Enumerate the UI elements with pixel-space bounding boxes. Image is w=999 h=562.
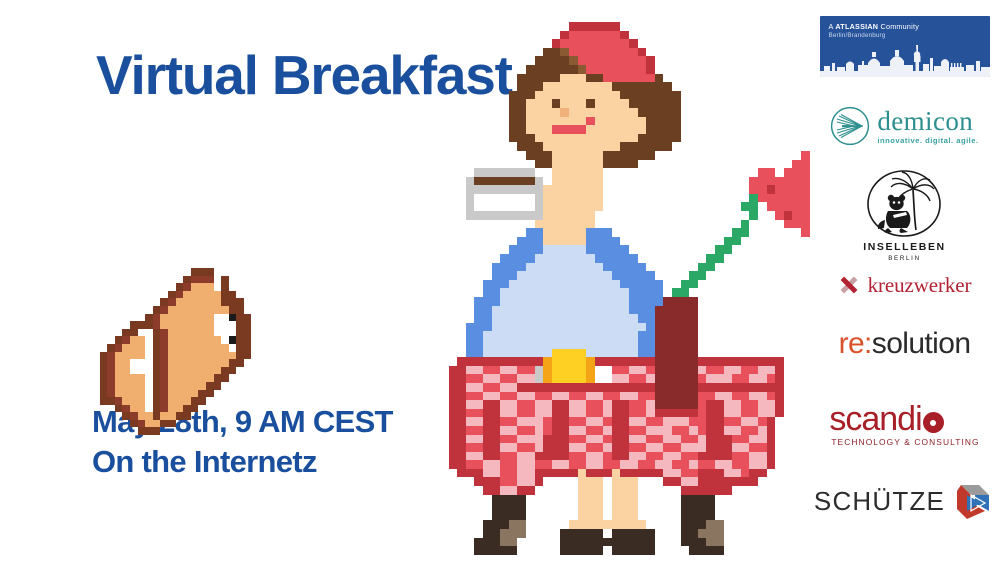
- schutze-wordmark: SCHÜTZE: [814, 486, 945, 517]
- logo-kreuzwerker[interactable]: kreuzwerker: [810, 268, 999, 302]
- scandio-tagline: TECHNOLOGY & CONSULTING: [831, 437, 979, 447]
- scandio-wordmark-row: scandi: [829, 405, 943, 434]
- acbb-atlassian-word: ATLASSIAN: [835, 22, 878, 31]
- kreuzwerker-wordmark: kreuzwerker: [868, 273, 972, 298]
- kreuzwerker-lockup: kreuzwerker: [838, 273, 972, 298]
- event-location: On the Internetz: [92, 442, 393, 482]
- logo-atlassian-community-berlin-brandenburg[interactable]: A ATLASSIAN Community Berlin/Brandenburg: [810, 12, 999, 80]
- sponsor-logo-column: A ATLASSIAN Community Berlin/Brandenburg: [810, 0, 999, 562]
- acbb-title-line: A ATLASSIAN Community: [829, 22, 920, 31]
- inselleben-wordmark: INSELLEBEN: [863, 241, 946, 253]
- scandio-wordmark: scandi: [829, 405, 921, 434]
- schutze-arrow-icon: [951, 481, 995, 521]
- slide-canvas: Virtual Breakfast May 28th, 9 AM CEST On…: [0, 0, 999, 562]
- demicon-wordmark: demicon: [877, 108, 978, 135]
- logo-demicon[interactable]: demicon innovative. digital. agile.: [810, 100, 999, 152]
- logo-resolution[interactable]: re:solution: [810, 322, 999, 366]
- kreuzwerker-cross-icon: [838, 274, 860, 296]
- logo-inselleben-berlin[interactable]: INSELLEBEN BERLIN: [810, 166, 999, 264]
- resolution-lockup: re:solution: [839, 327, 971, 361]
- resolution-prefix: re:: [839, 327, 872, 360]
- demicon-swoosh-icon: [830, 106, 870, 146]
- pixel-art-squirrel-icon: [92, 268, 252, 435]
- schutze-lockup: SCHÜTZE: [814, 481, 995, 521]
- pixel-art-breakfast-scene: [440, 22, 810, 555]
- scandio-dot-icon: [923, 412, 944, 433]
- scandio-lockup: scandi TECHNOLOGY & CONSULTING: [829, 405, 979, 447]
- resolution-rest: solution: [872, 327, 971, 360]
- inselleben-lockup: INSELLEBEN BERLIN: [863, 168, 946, 262]
- acbb-community-word: Community: [881, 22, 920, 31]
- acbb-region-line: Berlin/Brandenburg: [829, 32, 886, 39]
- logo-schutze[interactable]: SCHÜTZE: [810, 472, 999, 530]
- acbb-a-mark: A: [829, 22, 834, 31]
- berlin-skyline-icon: [820, 43, 990, 77]
- demicon-lockup: demicon innovative. digital. agile.: [830, 106, 978, 146]
- demicon-text: demicon innovative. digital. agile.: [877, 108, 978, 145]
- inselleben-palm-bear-icon: [864, 168, 944, 240]
- demicon-tagline: innovative. digital. agile.: [877, 137, 978, 145]
- logo-scandio[interactable]: scandi TECHNOLOGY & CONSULTING: [810, 398, 999, 454]
- acbb-banner: A ATLASSIAN Community Berlin/Brandenburg: [820, 16, 990, 77]
- inselleben-city: BERLIN: [888, 255, 921, 262]
